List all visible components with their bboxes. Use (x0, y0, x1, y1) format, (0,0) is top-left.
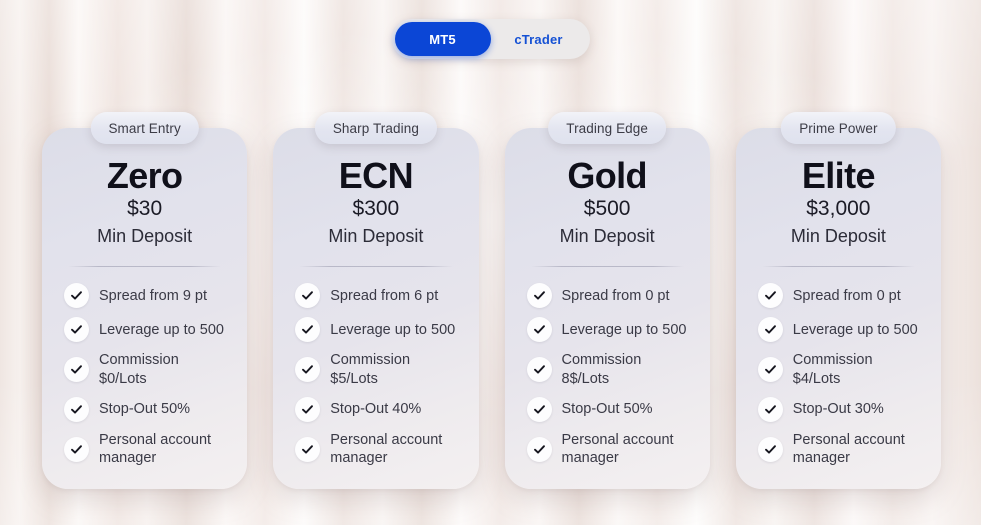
check-icon (758, 317, 783, 342)
plan-feature-list: Spread from 6 pt Leverage up to 500 Comm… (293, 283, 458, 467)
check-icon (295, 317, 320, 342)
feature-label: Stop-Out 50% (99, 400, 190, 418)
list-item: Leverage up to 500 (527, 317, 690, 342)
feature-label: Leverage up to 500 (562, 321, 687, 339)
plan-price: $300 (293, 196, 458, 222)
feature-label: Spread from 9 pt (99, 287, 207, 305)
feature-label: Personal account manager (330, 431, 458, 468)
list-item: Leverage up to 500 (758, 317, 921, 342)
platform-toggle-option-ctrader[interactable]: cTrader (491, 22, 587, 56)
check-icon (527, 357, 552, 382)
check-icon (64, 437, 89, 462)
pricing-card-ecn[interactable]: Sharp Trading ECN $300 Min Deposit Sprea… (273, 128, 478, 489)
plan-badge: Sharp Trading (315, 112, 437, 144)
feature-label: Commission $0/Lots (99, 351, 227, 388)
list-item: Stop-Out 50% (527, 397, 690, 422)
check-icon (527, 437, 552, 462)
check-icon (64, 283, 89, 308)
feature-label: Leverage up to 500 (99, 321, 224, 339)
plan-feature-list: Spread from 0 pt Leverage up to 500 Comm… (756, 283, 921, 467)
list-item: Personal account manager (527, 431, 690, 468)
feature-label: Leverage up to 500 (793, 321, 918, 339)
list-item: Commission $0/Lots (64, 351, 227, 388)
plan-price: $500 (525, 196, 690, 222)
plan-badge: Trading Edge (548, 112, 666, 144)
list-item: Spread from 0 pt (758, 283, 921, 308)
list-item: Commission $4/Lots (758, 351, 921, 388)
plan-badge: Prime Power (781, 112, 895, 144)
plan-subtitle: Min Deposit (756, 225, 921, 248)
card-divider (762, 266, 915, 267)
list-item: Commission $5/Lots (295, 351, 458, 388)
feature-label: Commission $5/Lots (330, 351, 458, 388)
platform-toggle-option-mt5[interactable]: MT5 (395, 22, 491, 56)
feature-label: Stop-Out 40% (330, 400, 421, 418)
list-item: Leverage up to 500 (64, 317, 227, 342)
pricing-card-zero[interactable]: Smart Entry Zero $30 Min Deposit Spread … (42, 128, 247, 489)
plan-feature-list: Spread from 9 pt Leverage up to 500 Comm… (62, 283, 227, 467)
pricing-card-row: Smart Entry Zero $30 Min Deposit Spread … (42, 128, 941, 489)
pricing-card-gold[interactable]: Trading Edge Gold $500 Min Deposit Sprea… (505, 128, 710, 489)
feature-label: Spread from 0 pt (562, 287, 670, 305)
check-icon (295, 397, 320, 422)
platform-toggle[interactable]: MT5 cTrader (392, 19, 590, 59)
feature-label: Commission $4/Lots (793, 351, 921, 388)
plan-title: ECN (293, 158, 458, 195)
check-icon (64, 397, 89, 422)
feature-label: Stop-Out 50% (562, 400, 653, 418)
feature-label: Stop-Out 30% (793, 400, 884, 418)
feature-label: Personal account manager (562, 431, 690, 468)
check-icon (758, 357, 783, 382)
plan-subtitle: Min Deposit (293, 225, 458, 248)
feature-label: Personal account manager (793, 431, 921, 468)
plan-subtitle: Min Deposit (525, 225, 690, 248)
check-icon (758, 437, 783, 462)
check-icon (295, 437, 320, 462)
plan-subtitle: Min Deposit (62, 225, 227, 248)
feature-label: Leverage up to 500 (330, 321, 455, 339)
plan-price: $3,000 (756, 196, 921, 222)
list-item: Stop-Out 30% (758, 397, 921, 422)
check-icon (295, 283, 320, 308)
plan-badge: Smart Entry (90, 112, 198, 144)
check-icon (295, 357, 320, 382)
plan-feature-list: Spread from 0 pt Leverage up to 500 Comm… (525, 283, 690, 467)
plan-title: Gold (525, 158, 690, 195)
check-icon (64, 357, 89, 382)
check-icon (758, 283, 783, 308)
pricing-card-elite[interactable]: Prime Power Elite $3,000 Min Deposit Spr… (736, 128, 941, 489)
list-item: Personal account manager (295, 431, 458, 468)
list-item: Spread from 9 pt (64, 283, 227, 308)
list-item: Commission 8$/Lots (527, 351, 690, 388)
plan-title: Elite (756, 158, 921, 195)
list-item: Personal account manager (64, 431, 227, 468)
plan-price: $30 (62, 196, 227, 222)
list-item: Personal account manager (758, 431, 921, 468)
check-icon (527, 397, 552, 422)
feature-label: Spread from 6 pt (330, 287, 438, 305)
feature-label: Spread from 0 pt (793, 287, 901, 305)
card-divider (299, 266, 452, 267)
card-divider (531, 266, 684, 267)
pricing-page: MT5 cTrader Smart Entry Zero $30 Min Dep… (0, 0, 981, 525)
list-item: Spread from 0 pt (527, 283, 690, 308)
check-icon (758, 397, 783, 422)
list-item: Stop-Out 40% (295, 397, 458, 422)
list-item: Spread from 6 pt (295, 283, 458, 308)
check-icon (527, 283, 552, 308)
list-item: Leverage up to 500 (295, 317, 458, 342)
check-icon (527, 317, 552, 342)
list-item: Stop-Out 50% (64, 397, 227, 422)
plan-title: Zero (62, 158, 227, 195)
feature-label: Personal account manager (99, 431, 227, 468)
card-divider (68, 266, 221, 267)
feature-label: Commission 8$/Lots (562, 351, 690, 388)
check-icon (64, 317, 89, 342)
